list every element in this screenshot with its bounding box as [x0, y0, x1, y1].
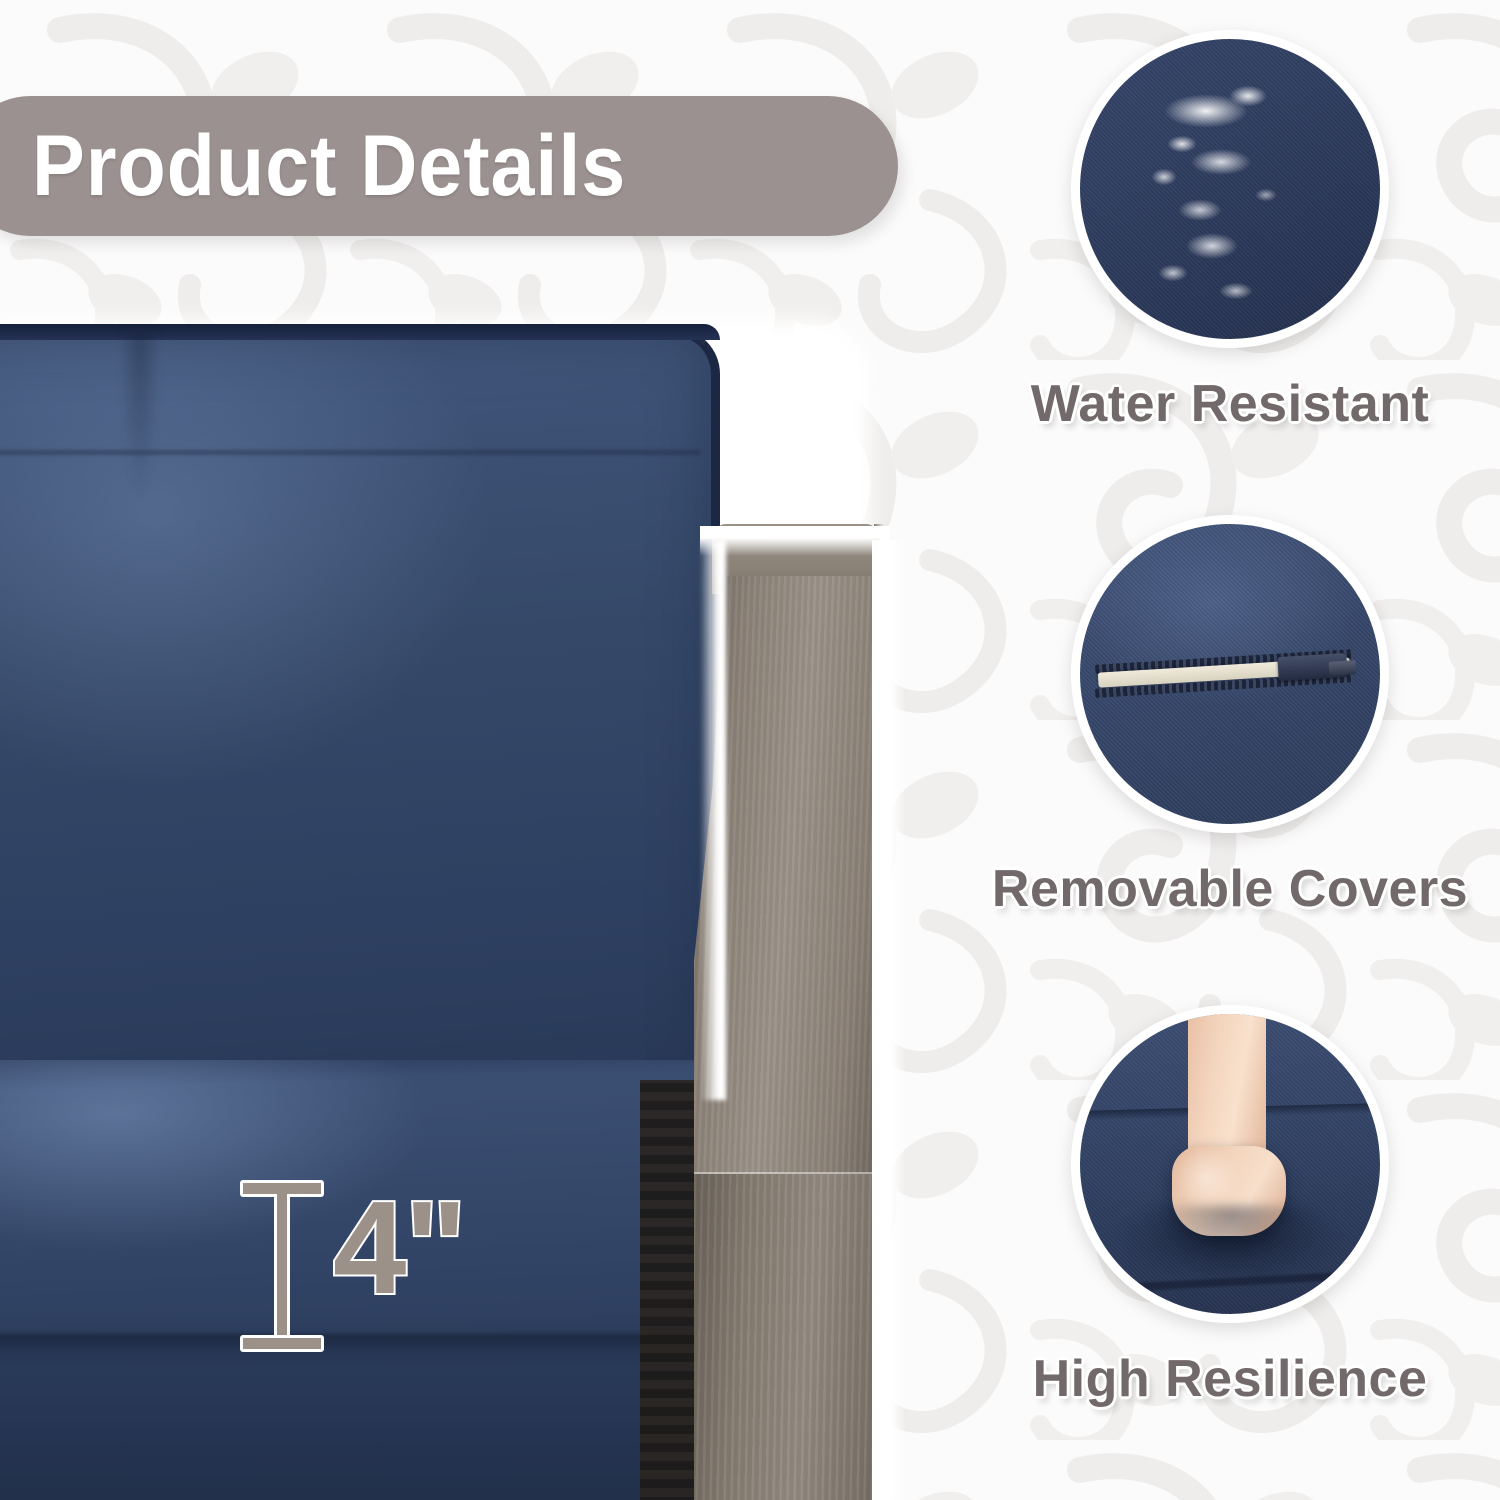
dimension-stem: [274, 1194, 290, 1340]
hand-pressing-cushion-photo: [1071, 1005, 1389, 1323]
feature-label-water-resistant: Water Resistant: [960, 374, 1500, 434]
water-beading-fabric-photo: [1071, 30, 1389, 348]
product-details-infographic: Product Details 4": [0, 0, 1500, 1500]
dimension-cap-bottom: [240, 1335, 324, 1352]
back-cushion-fold: [120, 332, 160, 502]
armrest-leg: [694, 1174, 880, 1500]
dimension-value-label: 4": [333, 1182, 465, 1314]
back-cushion-piping: [0, 324, 720, 340]
cushion-zipper-photo: [1071, 515, 1389, 833]
zipper-pull-tab: [1329, 660, 1357, 675]
photo-cutout-edge: [872, 540, 906, 1500]
header-banner: Product Details: [0, 96, 898, 236]
page-title: Product Details: [32, 117, 626, 216]
feature-label-high-resilience: High Resilience: [960, 1349, 1500, 1409]
feature-label-removable-covers: Removable Covers: [960, 859, 1500, 919]
feature-removable-covers: Removable Covers: [960, 515, 1500, 919]
dimension-marker-icon: [240, 1180, 324, 1352]
feature-high-resilience: High Resilience: [960, 1005, 1500, 1409]
back-cushion-seam: [0, 450, 700, 455]
cushion-cutout-edge: [700, 540, 726, 1100]
feature-water-resistant: Water Resistant: [960, 30, 1500, 434]
cushion-front-seam: [1071, 1269, 1389, 1294]
sofa-seat-skirt: [0, 1338, 750, 1500]
cushion-dimple-shadow: [1146, 1206, 1320, 1272]
armrest-cutout-edge-top: [700, 526, 890, 556]
feature-column: Water Resistant Removable Covers High: [960, 0, 1500, 1500]
